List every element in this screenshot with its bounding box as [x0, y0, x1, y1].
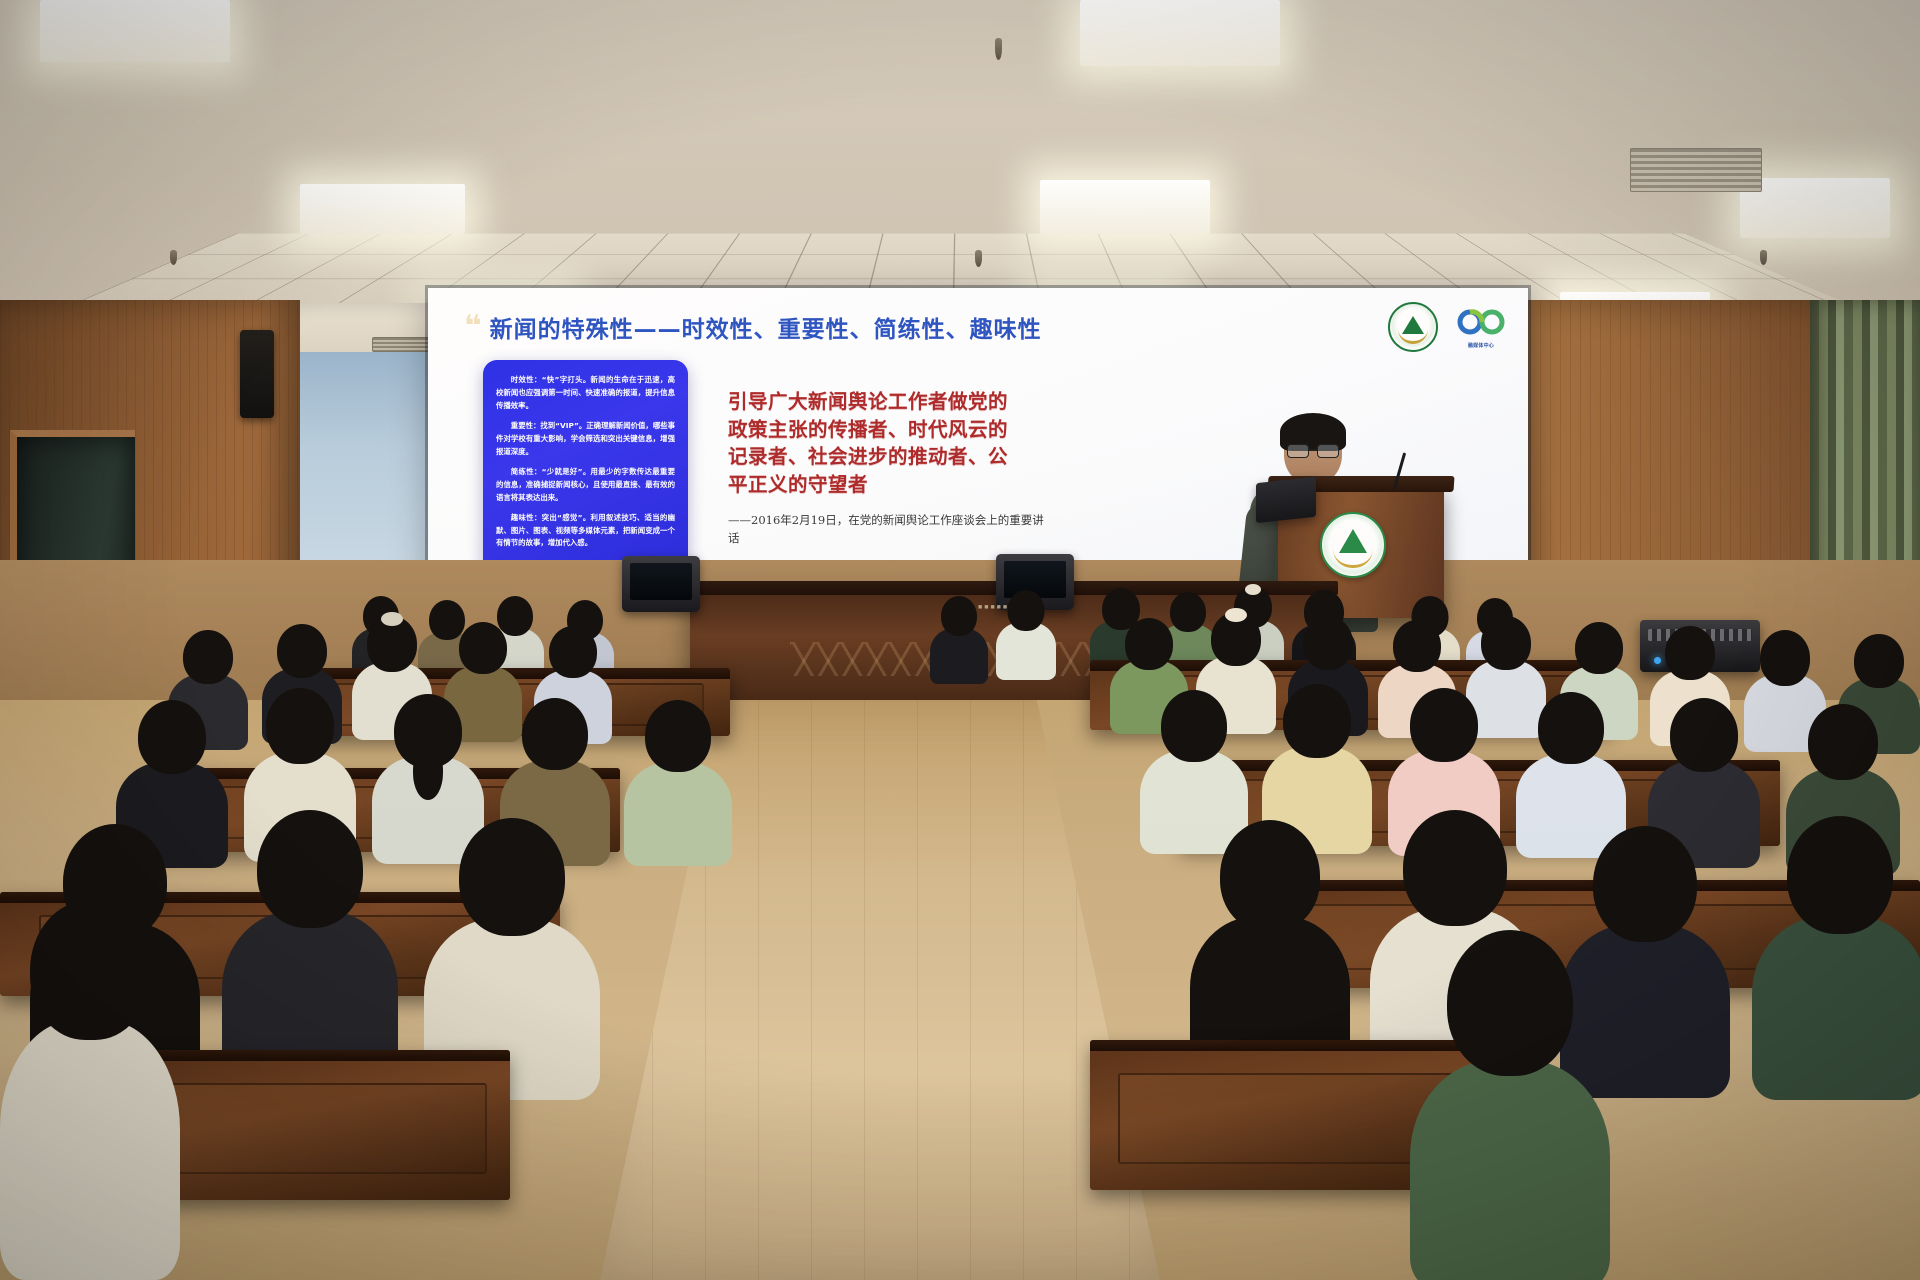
podium-laptop — [1256, 477, 1316, 523]
person-head — [1854, 634, 1904, 688]
person-head — [266, 688, 334, 764]
ceiling-light-panel — [1080, 0, 1280, 66]
sprinkler-head-icon — [975, 250, 982, 267]
sprinkler-head-icon — [995, 38, 1002, 60]
slide-header: ❝ 新闻的特殊性——时效性、重要性、简练性、趣味性 — [464, 308, 1504, 346]
glasses-icon — [1287, 444, 1339, 456]
bench-desk — [130, 1050, 510, 1200]
person-head — [1008, 590, 1045, 631]
blue-box-paragraph: 时效性：“快”字打头。新闻的生命在于迅速，高校新闻也应强调第一时间、快速准确的报… — [496, 374, 675, 413]
person-head — [941, 596, 977, 636]
sprinkler-head-icon — [1760, 250, 1767, 265]
wall-speaker — [240, 330, 274, 418]
quote-line: 政策主张的传播者、时代风云的 — [728, 416, 1058, 444]
slide-logos: 融媒体中心 — [1388, 302, 1512, 352]
person-head — [645, 700, 711, 772]
person-body — [1752, 916, 1920, 1100]
person-head — [277, 624, 327, 678]
ceiling-light-panel — [1740, 178, 1890, 238]
ceiling-light-panel — [300, 184, 465, 234]
podium-university-emblem-icon — [1320, 512, 1386, 578]
person-head — [522, 698, 588, 770]
person-head — [257, 810, 363, 928]
lecture-hall-scene: ❝ 新闻的特殊性——时效性、重要性、简练性、趣味性 融媒体中心 时效性：“快”字… — [0, 0, 1920, 1280]
bench-top — [130, 1050, 510, 1061]
person-body — [930, 628, 988, 684]
hair-clip-icon — [1225, 608, 1247, 622]
blue-box-paragraph: 简练性：“少就是好”。用最少的字数传达最重要的信息，准确捕捉新闻核心，且使用最直… — [496, 466, 675, 505]
university-emblem-icon — [1388, 302, 1438, 352]
person-head — [1161, 690, 1227, 762]
person-head — [1670, 698, 1738, 772]
person-head — [1403, 810, 1507, 926]
ceiling-light-panel — [40, 0, 230, 62]
slide-blue-textbox: 时效性：“快”字打头。新闻的生命在于迅速，高校新闻也应强调第一时间、快速准确的报… — [483, 360, 688, 578]
desk-monitor — [622, 556, 700, 612]
sprinkler-head-icon — [170, 250, 177, 265]
person-head — [459, 622, 507, 674]
person-head — [183, 630, 233, 684]
quote-source: ——2016年2月19日，在党的新闻舆论工作座谈会上的重要讲话 — [728, 511, 1048, 548]
slide-quote-block: 引导广大新闻舆论工作者做党的 政策主张的传播者、时代风云的 记录者、社会进步的推… — [728, 388, 1058, 548]
ceiling-light-panel — [1040, 180, 1210, 234]
hair-clip-icon — [381, 612, 403, 626]
person-head — [138, 700, 206, 774]
person-head — [1538, 692, 1604, 764]
soffit-vent — [372, 337, 434, 352]
audience-member — [0, 900, 180, 1280]
person-body — [1410, 1060, 1610, 1280]
person-head — [1575, 622, 1623, 674]
person-body — [0, 1020, 180, 1280]
audience-member — [1752, 816, 1920, 1096]
media-center-caption: 融媒体中心 — [1450, 343, 1512, 349]
person-body — [624, 762, 732, 866]
person-head — [1410, 688, 1478, 762]
person-head — [459, 818, 565, 936]
quote-mark-icon: ❝ — [464, 312, 480, 342]
ceiling-air-vent — [1630, 148, 1762, 192]
blue-box-paragraph: 趣味性：突出“感觉”。利用叙述技巧、适当的幽默、图片、图表、视频等多媒体元素，把… — [496, 512, 675, 551]
hair-clip-icon — [1245, 584, 1261, 595]
audience-member — [624, 700, 732, 862]
quote-line: 平正义的守望者 — [728, 471, 1058, 499]
person-head — [1125, 618, 1173, 670]
person-head — [1393, 620, 1441, 672]
person-head — [1220, 820, 1320, 932]
person-head — [1481, 616, 1531, 670]
person-head — [1593, 826, 1697, 942]
person-head — [1808, 704, 1878, 780]
blue-box-paragraph: 重要性：找到“VIP”。正确理解新闻价值，哪些事件对学校有重大影响，学会筛选和突… — [496, 420, 675, 459]
ponytail — [413, 746, 443, 800]
person-head — [1665, 626, 1715, 680]
bench-panel — [157, 1083, 488, 1174]
media-center-logo-icon: 融媒体中心 — [1450, 304, 1512, 350]
audience-member — [996, 590, 1056, 676]
audience-member — [1410, 930, 1610, 1280]
person-head — [1447, 930, 1573, 1076]
person-head — [1760, 630, 1810, 686]
person-head — [30, 900, 150, 1040]
person-head — [1787, 816, 1893, 934]
quote-line: 引导广大新闻舆论工作者做党的 — [728, 388, 1058, 416]
quote-line: 记录者、社会进步的推动者、公 — [728, 443, 1058, 471]
audience-member — [930, 596, 988, 680]
person-head — [1303, 616, 1353, 670]
person-head — [1283, 684, 1351, 758]
person-head — [549, 626, 597, 678]
slide-title: 新闻的特殊性——时效性、重要性、简练性、趣味性 — [490, 310, 1042, 344]
